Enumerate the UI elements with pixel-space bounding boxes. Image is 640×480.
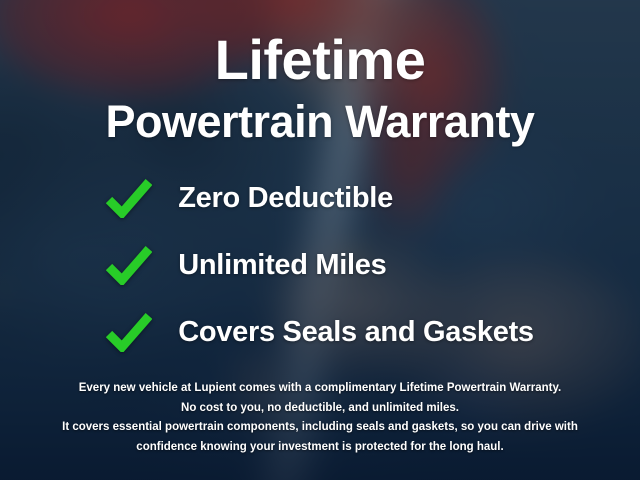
- feature-item-unlimited-miles: Unlimited Miles: [106, 245, 534, 285]
- lifetime-powertrain-warranty-banner: Lifetime Powertrain Warranty Zero Deduct…: [0, 0, 640, 480]
- body-copy-line: Every new vehicle at Lupient comes with …: [24, 379, 616, 399]
- check-icon: [106, 178, 152, 218]
- headline-line-1: Lifetime: [0, 32, 640, 88]
- body-copy-line: confidence knowing your investment is pr…: [24, 438, 616, 458]
- feature-label: Unlimited Miles: [178, 249, 386, 282]
- feature-label: Covers Seals and Gaskets: [178, 316, 534, 349]
- feature-list: Zero Deductible Unlimited Miles: [106, 178, 534, 352]
- body-copy: Every new vehicle at Lupient comes with …: [0, 379, 640, 458]
- body-copy-line: No cost to you, no deductible, and unlim…: [24, 399, 616, 419]
- banner-content: Lifetime Powertrain Warranty Zero Deduct…: [0, 0, 640, 480]
- feature-label: Zero Deductible: [178, 182, 393, 215]
- check-icon: [106, 312, 152, 352]
- feature-item-zero-deductible: Zero Deductible: [106, 178, 534, 218]
- feature-item-covers-seals-and-gaskets: Covers Seals and Gaskets: [106, 312, 534, 352]
- check-icon: [106, 245, 152, 285]
- body-copy-line: It covers essential powertrain component…: [24, 418, 616, 438]
- headline-line-2: Powertrain Warranty: [0, 99, 640, 144]
